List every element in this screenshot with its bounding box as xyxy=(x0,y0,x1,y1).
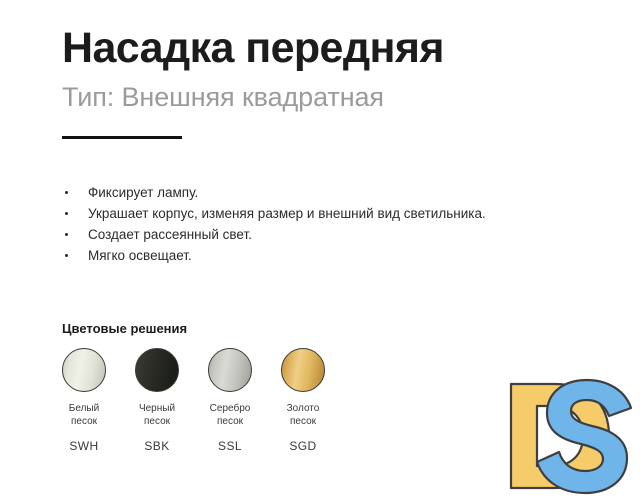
product-slide: Насадка передняя Тип: Внешняя квадратная… xyxy=(0,0,643,500)
list-item-label: Создает рассеянный свет. xyxy=(88,227,252,242)
brand-logo-ds xyxy=(497,372,643,500)
color-options-heading: Цветовые решения xyxy=(62,320,187,338)
color-option-label: Белый песок xyxy=(62,402,106,428)
color-option-swh[interactable]: Белый песок SWH xyxy=(62,348,106,454)
color-name-line1: Серебро xyxy=(208,402,252,415)
black-sand-swatch[interactable] xyxy=(135,348,179,392)
bullet-icon xyxy=(65,233,68,236)
color-name-line1: Золото xyxy=(281,402,325,415)
color-option-sgd[interactable]: Золото песок SGD xyxy=(281,348,325,454)
feature-list: Фиксирует лампу. Украшает корпус, изменя… xyxy=(62,182,602,266)
color-name-line1: Черный xyxy=(135,402,179,415)
title-divider xyxy=(62,136,182,139)
color-name-line2: песок xyxy=(208,415,252,428)
color-swatch-list: Белый песок SWH Черный песок SBK Серебро… xyxy=(62,348,325,454)
gold-sand-swatch[interactable] xyxy=(281,348,325,392)
color-code: SBK xyxy=(135,439,179,454)
color-code: SSL xyxy=(208,439,252,454)
color-option-ssl[interactable]: Серебро песок SSL xyxy=(208,348,252,454)
color-name-line2: песок xyxy=(62,415,106,428)
bullet-icon xyxy=(65,191,68,194)
list-item: Фиксирует лампу. xyxy=(62,182,602,203)
color-name-line2: песок xyxy=(135,415,179,428)
list-item-label: Украшает корпус, изменяя размер и внешни… xyxy=(88,206,486,221)
bullet-icon xyxy=(65,212,68,215)
color-name-line1: Белый xyxy=(62,402,106,415)
page-subtitle: Тип: Внешняя квадратная xyxy=(62,81,602,113)
color-code: SGD xyxy=(281,439,325,454)
logo-letter-s xyxy=(537,380,631,493)
header: Насадка передняя Тип: Внешняя квадратная xyxy=(62,24,602,113)
color-name-line2: песок xyxy=(281,415,325,428)
white-sand-swatch[interactable] xyxy=(62,348,106,392)
color-option-label: Золото песок xyxy=(281,402,325,428)
color-option-sbk[interactable]: Черный песок SBK xyxy=(135,348,179,454)
list-item-label: Мягко освещает. xyxy=(88,248,192,263)
list-item-label: Фиксирует лампу. xyxy=(88,185,198,200)
color-code: SWH xyxy=(62,439,106,454)
silver-sand-swatch[interactable] xyxy=(208,348,252,392)
color-option-label: Серебро песок xyxy=(208,402,252,428)
list-item: Украшает корпус, изменяя размер и внешни… xyxy=(62,203,602,224)
bullet-icon xyxy=(65,254,68,257)
color-option-label: Черный песок xyxy=(135,402,179,428)
list-item: Мягко освещает. xyxy=(62,245,602,266)
list-item: Создает рассеянный свет. xyxy=(62,224,602,245)
page-title: Насадка передняя xyxy=(62,24,602,72)
